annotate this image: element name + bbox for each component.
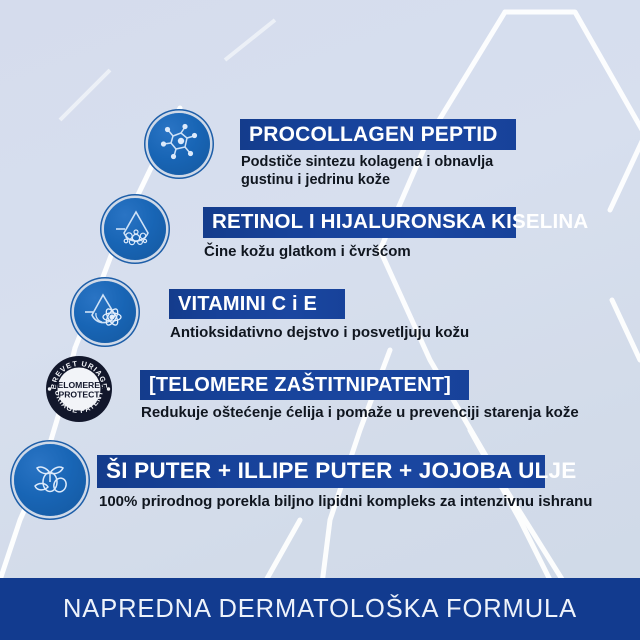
seal-line-1: TELOMERES bbox=[52, 380, 106, 390]
ingredient-subtitle-5: 100% prirodnog porekla biljno lipidni ko… bbox=[99, 493, 639, 511]
ingredient-banner-1: PROCOLLAGEN PEPTID bbox=[240, 119, 516, 150]
seal-line-2: PROTECT bbox=[58, 390, 100, 400]
ingredient-subtitle-3: Antioksidativno dejstvo i posvetljuju ko… bbox=[170, 324, 530, 342]
ingredient-banner-3: VITAMINI C i E bbox=[169, 289, 345, 319]
ingredient-title-5: ŠI PUTER + ILLIPE PUTER + JOJOBA ULJE bbox=[106, 460, 576, 483]
molecule-icon bbox=[148, 113, 210, 175]
ingredient-banner-5: ŠI PUTER + ILLIPE PUTER + JOJOBA ULJE bbox=[97, 455, 545, 488]
ingredient-subtitle-4: Redukuje oštećenje ćelija i pomaže u pre… bbox=[141, 404, 611, 422]
ingredient-title-1: PROCOLLAGEN PEPTID bbox=[249, 124, 498, 145]
droplet-atom-icon bbox=[74, 281, 136, 343]
ingredient-banner-4: [TELOMERE ZAŠTITNIPATENT] bbox=[140, 370, 469, 400]
ingredient-title-2: RETINOL I HIJALURONSKA KISELINA bbox=[212, 212, 588, 233]
ingredient-title-3: VITAMINI C i E bbox=[178, 294, 317, 314]
droplet-bubbles-icon bbox=[104, 198, 166, 260]
shea-nut-icon bbox=[14, 444, 86, 516]
footer-banner: NAPREDNA DERMATOLOŠKA FORMULA bbox=[0, 578, 640, 640]
ingredient-title-4: [TELOMERE ZAŠTITNIPATENT] bbox=[149, 375, 451, 395]
footer-title: NAPREDNA DERMATOLOŠKA FORMULA bbox=[63, 595, 577, 624]
ingredient-subtitle-2: Čine kožu glatkom i čvršćom bbox=[204, 243, 544, 261]
ingredient-subtitle-1: Podstiče sintezu kolagena i obnavlja gus… bbox=[241, 154, 541, 189]
telomeres-protect-seal: BREVET URIAGE URIAGE PATENT TELOMERES PR… bbox=[45, 355, 113, 423]
ingredient-banner-2: RETINOL I HIJALURONSKA KISELINA bbox=[203, 207, 516, 238]
infographic-poster: PROCOLLAGEN PEPTID Podstiče sintezu kola… bbox=[0, 0, 640, 640]
